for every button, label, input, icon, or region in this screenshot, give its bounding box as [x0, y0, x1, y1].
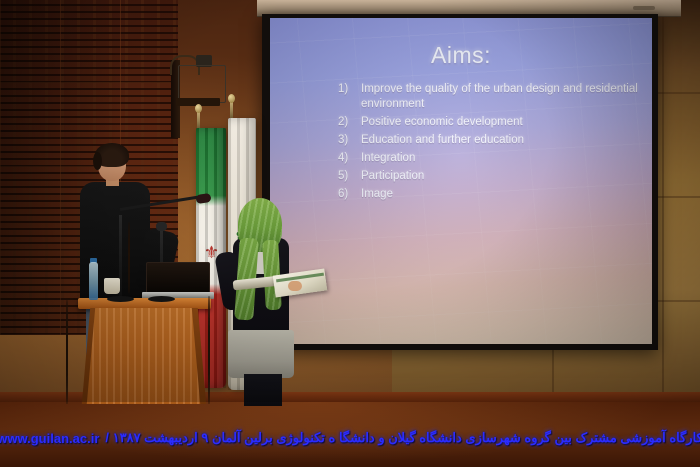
laptop-screen	[146, 262, 210, 294]
floor-cable-left	[66, 300, 68, 404]
woman-skirt	[228, 330, 294, 378]
presentation-photo: Aims: 1) Improve the quality of the urba…	[0, 0, 700, 467]
microphone-base	[107, 296, 134, 302]
flag-pole-iran	[197, 110, 200, 130]
microphone-base-second	[148, 296, 175, 302]
housing-knob	[633, 6, 655, 10]
mic-cable	[128, 222, 130, 294]
woman-hand	[288, 281, 302, 291]
screen-vignette	[270, 18, 652, 344]
microphone-head-second	[156, 222, 167, 231]
floor-cable-right	[208, 296, 210, 404]
podium	[85, 308, 203, 404]
woman-legs	[244, 374, 282, 406]
flag-pole-university	[230, 100, 233, 120]
flag-finial-university	[228, 94, 235, 103]
water-bottle	[89, 262, 98, 300]
man-hair-side	[93, 152, 102, 170]
flag-finial-iran	[195, 104, 202, 113]
projection-screen: Aims: 1) Improve the quality of the urba…	[270, 18, 652, 344]
floor-highlight	[0, 402, 700, 467]
paper-cup	[104, 278, 120, 294]
